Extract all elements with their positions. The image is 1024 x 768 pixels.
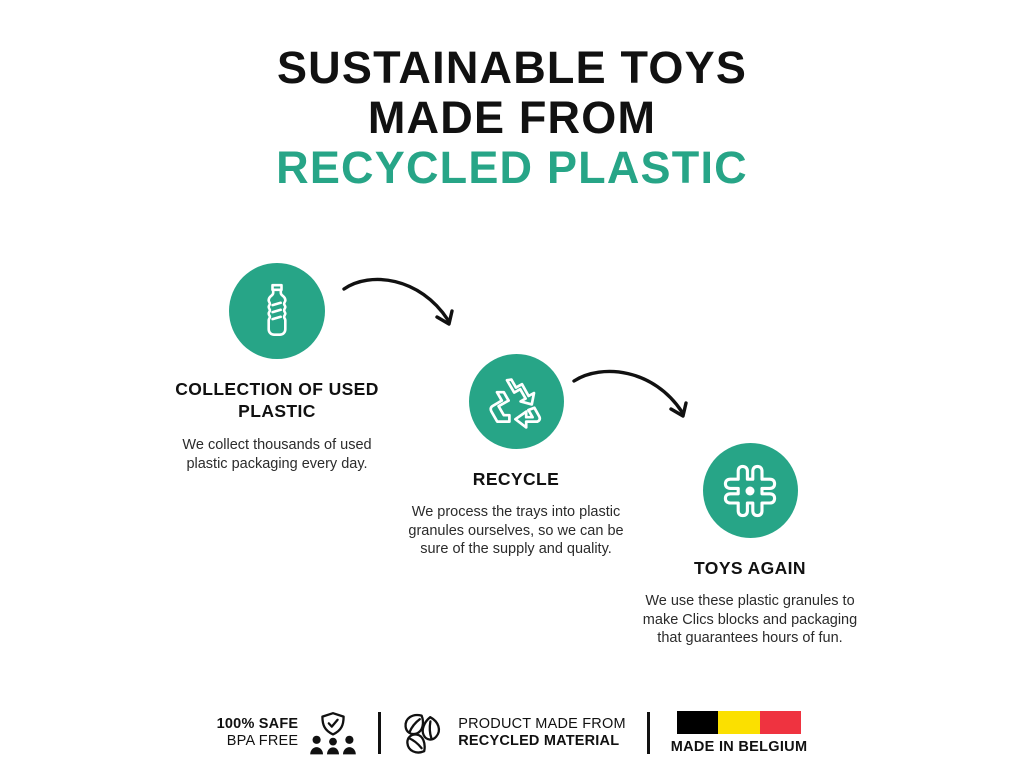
arrow-collection-to-recycle-icon	[342, 272, 474, 342]
page-title: SUSTAINABLE TOYS MADE FROM RECYCLED PLAS…	[0, 43, 1024, 193]
step-heading: RECYCLE	[404, 468, 628, 490]
badge-made-in-belgium: MADE IN BELGIUM	[671, 711, 808, 755]
clics-toy-block-icon	[721, 462, 779, 520]
infographic-canvas: SUSTAINABLE TOYS MADE FROM RECYCLED PLAS…	[0, 0, 1024, 768]
made-in-belgium-caption: MADE IN BELGIUM	[671, 739, 808, 755]
step-icon-circle	[229, 263, 325, 359]
title-line-1: SUSTAINABLE TOYS	[0, 43, 1024, 93]
badge-recycled-material-text: PRODUCT MADE FROM RECYCLED MATERIAL	[458, 716, 625, 750]
three-leaves-icon	[402, 712, 446, 754]
plastic-bottle-icon	[252, 281, 302, 341]
flag-band-red	[760, 711, 801, 734]
arrow-recycle-to-toys-icon	[572, 363, 708, 435]
footer-divider-1	[378, 712, 381, 754]
step-heading: TOYS AGAIN	[640, 557, 860, 579]
badge-bpa-free: 100% SAFE BPA FREE	[217, 711, 358, 755]
step-body: We use these plastic granules to make Cl…	[640, 592, 860, 648]
footer-divider-2	[647, 712, 650, 754]
step-icon-circle	[469, 354, 564, 449]
step-heading: COLLECTION OF USED PLASTIC	[170, 378, 384, 422]
title-line-3: RECYCLED PLASTIC	[0, 143, 1024, 193]
badge-recycled-material-line-1: PRODUCT MADE FROM	[458, 716, 625, 733]
badge-bpa-free-line-2: BPA FREE	[217, 733, 299, 750]
flag-band-black	[677, 711, 718, 734]
badge-bpa-free-line-1: 100% SAFE	[217, 716, 299, 733]
step-body: We collect thousands of used plastic pac…	[170, 436, 384, 473]
badge-recycled-material: PRODUCT MADE FROM RECYCLED MATERIAL	[402, 712, 625, 754]
flag-band-yellow	[718, 711, 759, 734]
title-line-2: MADE FROM	[0, 93, 1024, 143]
step-toys-again: TOYS AGAIN We use these plastic granules…	[640, 443, 860, 648]
badge-recycled-material-line-2: RECYCLED MATERIAL	[458, 733, 625, 750]
step-icon-circle	[703, 443, 798, 538]
belgium-flag-icon	[677, 711, 801, 734]
step-body: We process the trays into plastic granul…	[404, 503, 628, 559]
badge-bpa-free-text: 100% SAFE BPA FREE	[217, 716, 299, 750]
recycling-symbol-icon	[488, 375, 544, 429]
footer-badges: 100% SAFE BPA FREE	[0, 704, 1024, 762]
shield-check-family-icon	[309, 711, 357, 755]
